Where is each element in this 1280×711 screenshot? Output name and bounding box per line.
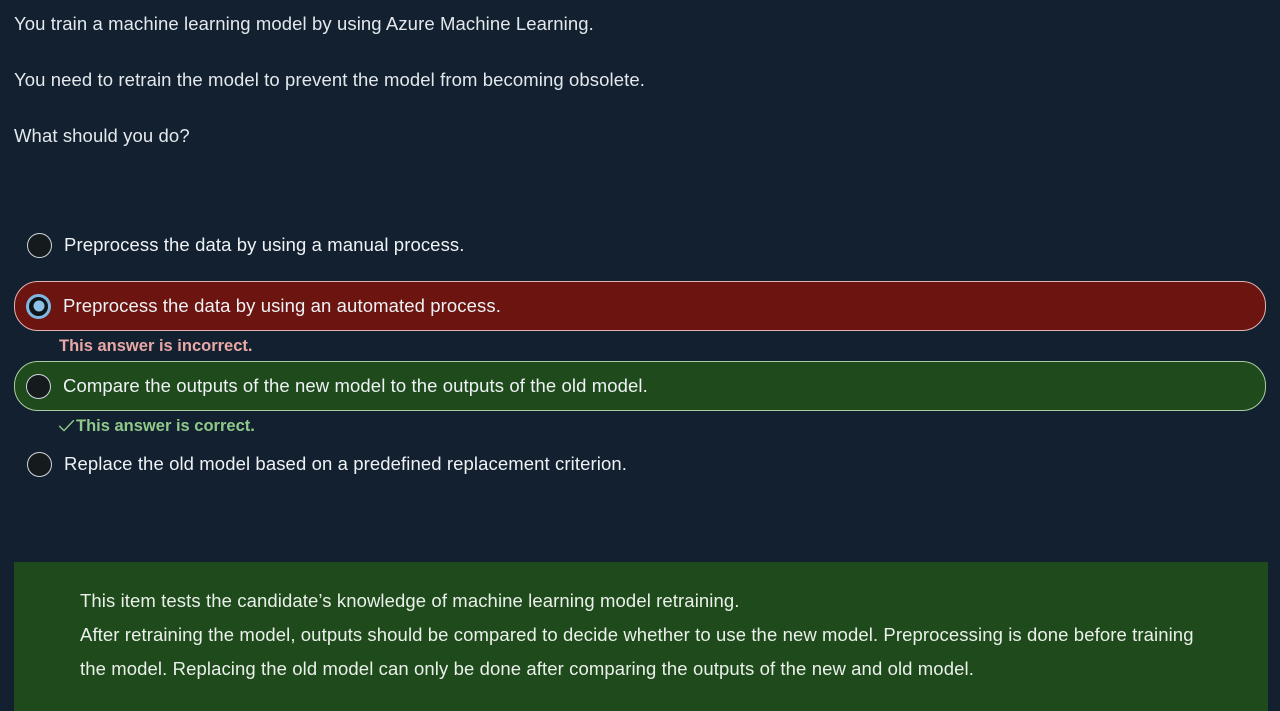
question-line-3: What should you do? — [14, 124, 190, 148]
radio-button-icon[interactable] — [27, 233, 52, 258]
correct-feedback: This answer is correct. — [0, 411, 1280, 441]
explanation-panel: This item tests the candidate’s knowledg… — [14, 562, 1268, 711]
radio-button-icon[interactable] — [26, 374, 51, 399]
answer-options-list: Preprocess the data by using a manual pr… — [0, 222, 1280, 487]
answer-option-label: Compare the outputs of the new model to … — [63, 374, 648, 398]
correct-feedback-text: This answer is correct. — [76, 415, 255, 437]
radio-button-icon[interactable] — [27, 452, 52, 477]
answer-option-3[interactable]: Compare the outputs of the new model to … — [14, 361, 1266, 411]
question-line-1: You train a machine learning model by us… — [14, 12, 594, 36]
radio-button-icon[interactable] — [26, 294, 51, 319]
incorrect-feedback-text: This answer is incorrect. — [59, 335, 253, 357]
question-line-2: You need to retrain the model to prevent… — [14, 68, 645, 92]
answer-option-1[interactable]: Preprocess the data by using a manual pr… — [14, 222, 1266, 268]
explanation-paragraph-2: After retraining the model, outputs shou… — [80, 618, 1208, 686]
answer-option-label: Replace the old model based on a predefi… — [64, 452, 627, 476]
answer-option-label: Preprocess the data by using an automate… — [63, 294, 501, 318]
answer-option-4[interactable]: Replace the old model based on a predefi… — [14, 441, 1266, 487]
check-icon — [58, 418, 75, 434]
explanation-paragraph-1: This item tests the candidate’s knowledg… — [80, 584, 1208, 618]
answer-option-label: Preprocess the data by using a manual pr… — [64, 233, 465, 257]
answer-option-2[interactable]: Preprocess the data by using an automate… — [14, 281, 1266, 331]
incorrect-feedback: This answer is incorrect. — [0, 331, 1280, 361]
